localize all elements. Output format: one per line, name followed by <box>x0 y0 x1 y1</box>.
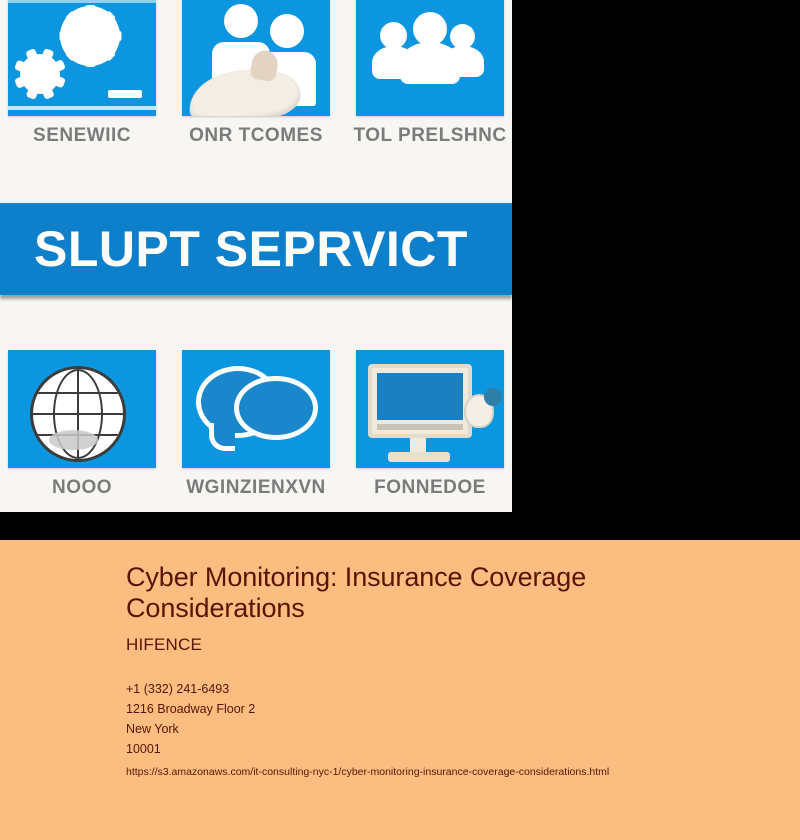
person-body <box>400 42 460 84</box>
tile-caption: ONR TCOMES <box>189 125 323 147</box>
tile-caption: TOL PRELSHNC <box>353 125 506 147</box>
progress-bar-shape <box>108 90 142 98</box>
person-head <box>270 14 304 48</box>
two-people-handshake-icon <box>182 0 330 116</box>
contact-phone: +1 (332) 241-6493 <box>126 679 746 699</box>
tile-communication: WGINZIENXVN <box>178 350 334 512</box>
monitor-screen <box>377 373 463 420</box>
person-head <box>380 22 407 49</box>
gear-small-icon <box>20 54 60 94</box>
chat-bubble-front <box>234 376 318 440</box>
info-content: Cyber Monitoring: Insurance Coverage Con… <box>126 562 746 780</box>
gear-large-icon <box>66 12 114 60</box>
monitor-stand-base <box>388 452 450 462</box>
gear-teeth <box>66 12 114 60</box>
monitor-top-edge <box>8 0 156 3</box>
tile-caption: FONNEDOE <box>374 477 486 499</box>
source-url-link[interactable]: https://s3.amazonaws.com/it-consulting-n… <box>126 764 746 780</box>
contact-city: New York <box>126 719 746 739</box>
hero-banner: SLUPT SEPRVICT <box>0 203 512 295</box>
globe-icon <box>8 350 156 468</box>
tile-people: TOL PRELSHNC <box>352 0 508 164</box>
brand-name: HIFENCE <box>126 635 746 655</box>
hero-image: SENEWIIC ONR TCOMES <box>0 0 512 512</box>
monitor-shape <box>368 364 472 438</box>
chat-bubble-tail <box>209 423 235 451</box>
contact-list: +1 (332) 241-6493 1216 Broadway Floor 2 … <box>126 679 746 759</box>
hero-band: SENEWIIC ONR TCOMES <box>0 0 800 540</box>
person-head <box>413 12 447 46</box>
globe-parallel <box>33 413 123 415</box>
globe-shape <box>30 366 126 462</box>
people-group-icon <box>356 0 504 116</box>
gears-monitor-icon <box>8 0 156 116</box>
info-panel: Cyber Monitoring: Insurance Coverage Con… <box>0 540 800 840</box>
tile-global: NOOO <box>4 350 160 512</box>
person-head <box>224 4 258 38</box>
tile-services: SENEWIIC <box>4 0 160 164</box>
page-title: Cyber Monitoring: Insurance Coverage Con… <box>126 562 746 623</box>
globe-landmass <box>49 430 98 450</box>
tile-row-top: SENEWIIC ONR TCOMES <box>0 0 512 164</box>
desktop-monitor-icon <box>356 350 504 468</box>
monitor-bezel-strip <box>377 424 463 430</box>
tile-caption: WGINZIENXVN <box>186 477 326 499</box>
tile-outcomes: ONR TCOMES <box>178 0 334 164</box>
chat-bubbles-icon <box>182 350 330 468</box>
gear-teeth <box>20 54 60 94</box>
contact-street: 1216 Broadway Floor 2 <box>126 699 746 719</box>
mouse-accent-dot <box>484 388 502 406</box>
tile-caption: SENEWIIC <box>33 125 131 147</box>
contact-zip: 10001 <box>126 739 746 759</box>
globe-parallel <box>33 392 123 394</box>
tile-monitoring: FONNEDOE <box>352 350 508 512</box>
tile-row-bottom: NOOO WGINZIENXVN <box>0 350 512 512</box>
hero-banner-text: SLUPT SEPRVICT <box>34 224 468 274</box>
tile-caption: NOOO <box>52 477 112 499</box>
monitor-bottom-edge <box>8 106 156 110</box>
